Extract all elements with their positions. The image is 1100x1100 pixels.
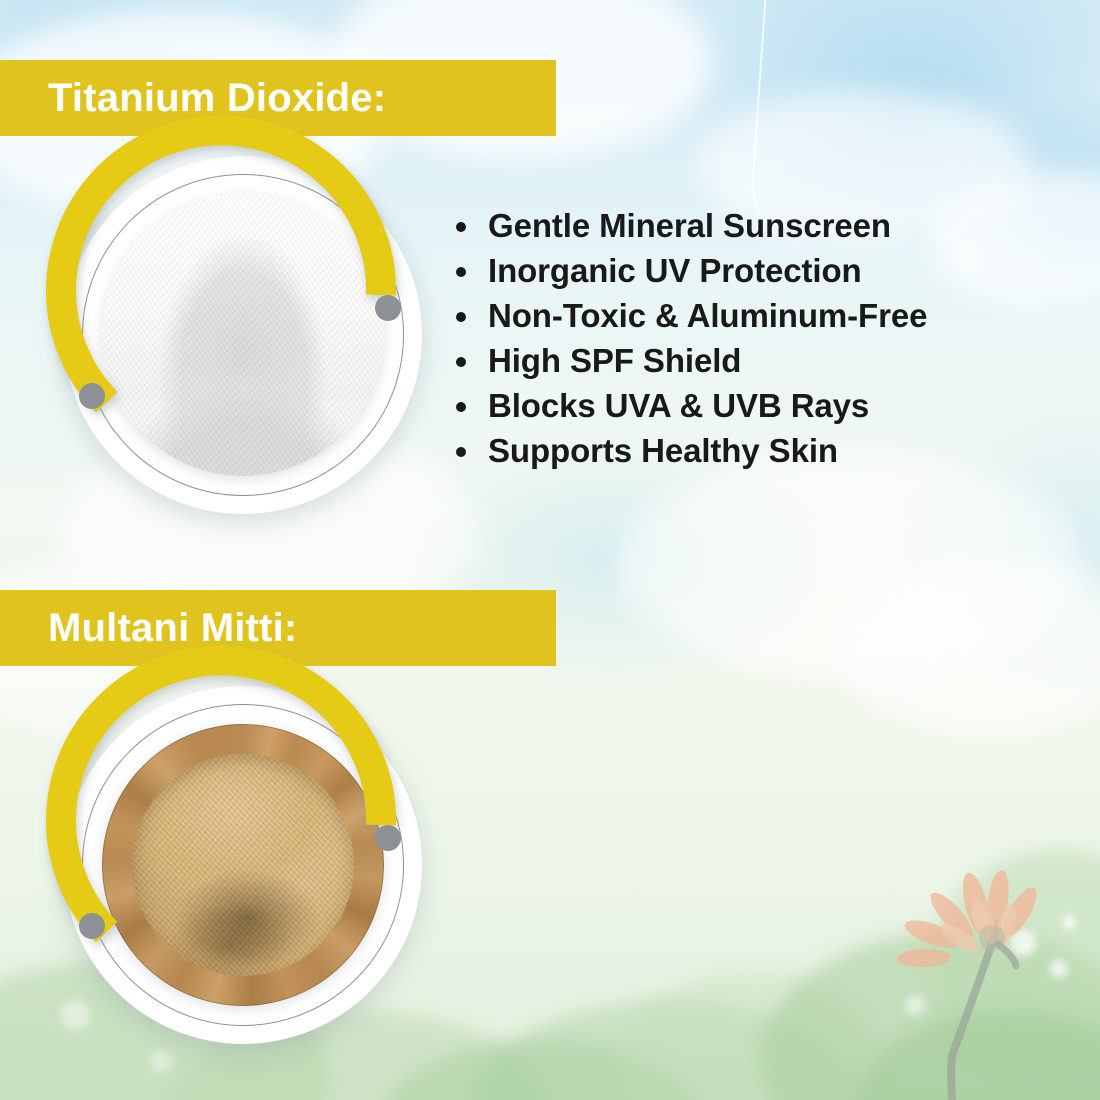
benefit-item: Non-Toxic & Aluminum-Free — [450, 294, 1070, 338]
section-title: Multani Mitti: — [0, 606, 297, 651]
bokeh-decoration — [1010, 930, 1036, 956]
arc-endpoint-dot-left — [79, 913, 105, 939]
ingredient-medallion — [48, 148, 438, 538]
benefit-item: High SPF Shield — [450, 339, 1070, 383]
progress-arc-group — [48, 148, 438, 538]
foliage-decoration — [620, 970, 880, 1100]
section-banner: Titanium Dioxide: — [0, 60, 556, 136]
yellow-progress-arc — [61, 131, 381, 403]
cloud-decoration — [840, 560, 1100, 740]
section-title: Titanium Dioxide: — [0, 76, 386, 121]
bokeh-decoration — [1062, 915, 1076, 929]
benefit-item: Blocks UVA & UVB Rays — [450, 384, 1070, 428]
infographic-poster: Titanium Dioxide: Gentl — [0, 0, 1100, 1100]
foliage-decoration — [760, 930, 1100, 1100]
progress-arc-group — [48, 678, 438, 1068]
arc-endpoint-dot-right — [375, 825, 401, 851]
section-banner: Multani Mitti: — [0, 590, 556, 666]
bokeh-decoration — [905, 995, 925, 1015]
benefit-item: Supports Healthy Skin — [450, 429, 1070, 473]
flower-decoration — [880, 860, 1100, 1100]
arc-endpoint-dot-right — [375, 295, 401, 321]
benefit-item: Inorganic UV Protection — [450, 249, 1070, 293]
arc-endpoint-dot-left — [79, 383, 105, 409]
benefits-list-titanium-dioxide: Gentle Mineral Sunscreen Inorganic UV Pr… — [450, 204, 1070, 474]
cloud-decoration — [620, 450, 1080, 680]
bokeh-decoration — [1050, 960, 1068, 978]
ingredient-medallion — [48, 678, 438, 1068]
benefit-item: Gentle Mineral Sunscreen — [450, 204, 1070, 248]
foliage-decoration — [860, 1010, 1100, 1100]
foliage-decoration — [930, 850, 1100, 1080]
yellow-progress-arc — [61, 661, 381, 933]
foliage-decoration — [470, 1000, 870, 1100]
